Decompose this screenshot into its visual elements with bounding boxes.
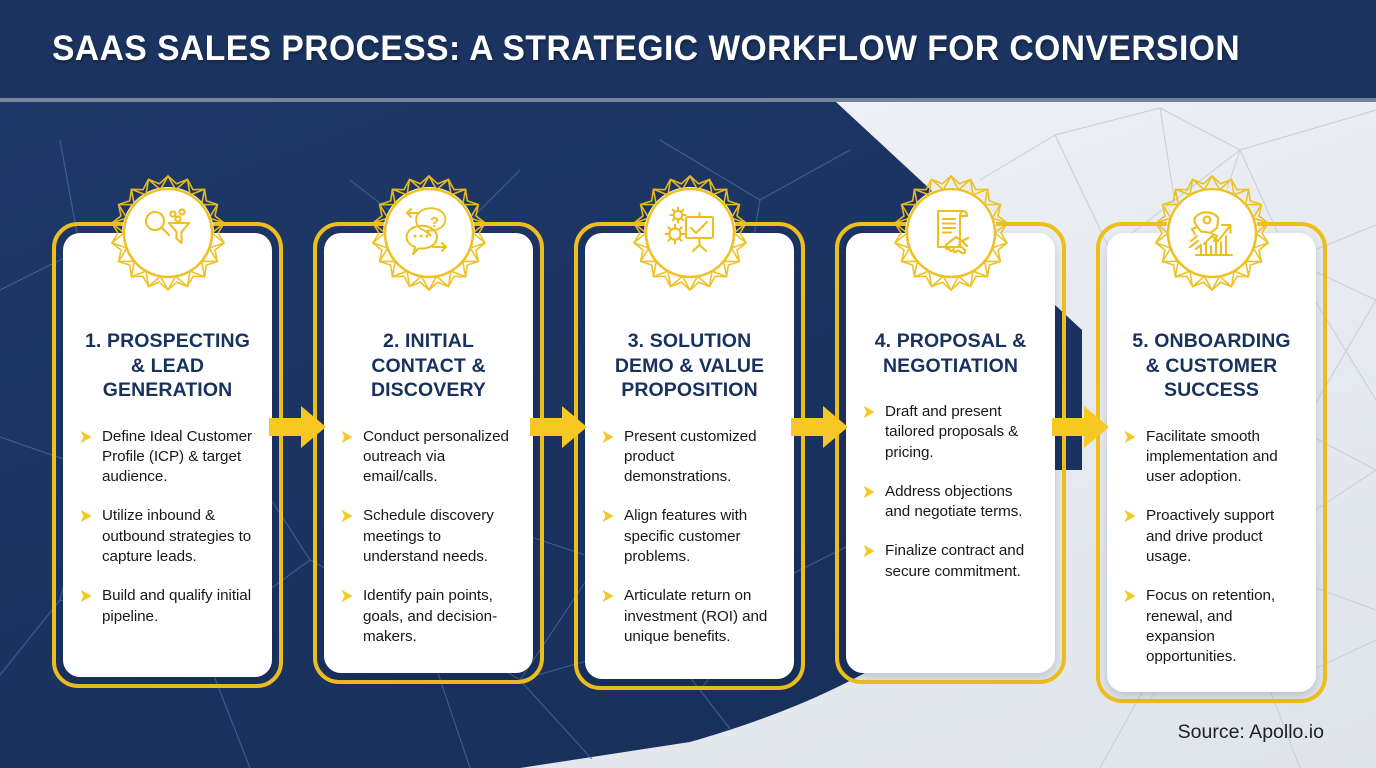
step-title-2: 2. INITIAL CONTACT & DISCOVERY — [340, 329, 517, 403]
list-item: Finalize contract and secure commitment. — [862, 541, 1039, 582]
bullet-arrow-icon — [79, 509, 93, 523]
magnifier-funnel-icon — [106, 171, 230, 295]
gears-presentation-check-icon — [628, 171, 752, 295]
list-item: Conduct personalized outreach via email/… — [340, 427, 517, 488]
bullet-arrow-icon — [79, 589, 93, 603]
bullet-text: Align features with specific customer pr… — [624, 506, 778, 567]
bullet-arrow-icon — [862, 405, 876, 419]
bullet-arrow-icon — [862, 544, 876, 558]
arrow-step4-to-step5 — [1050, 402, 1112, 452]
bullet-arrow-icon — [340, 509, 354, 523]
bullet-arrow-icon — [79, 589, 93, 603]
bullet-text: Utilize inbound & outbound strategies to… — [102, 506, 256, 567]
step-card-body: 3. SOLUTION DEMO & VALUE PROPOSITIONPres… — [585, 233, 794, 679]
bullet-arrow-icon — [79, 430, 93, 444]
bullet-text: Focus on retention, renewal, and expansi… — [1146, 586, 1300, 667]
bullet-text: Identify pain points, goals, and decisio… — [363, 586, 517, 647]
step-card-content: 2. INITIAL CONTACT & DISCOVERYConduct pe… — [324, 233, 533, 673]
step-card-body: 1. PROSPECTING & LEAD GENERATIONDefine I… — [63, 233, 272, 677]
bullet-arrow-icon — [601, 430, 615, 444]
bullet-arrow-icon — [1123, 430, 1137, 444]
right-arrow-icon — [1050, 402, 1112, 452]
steps-container: 1. PROSPECTING & LEAD GENERATIONDefine I… — [0, 0, 1376, 768]
bullet-text: Define Ideal Customer Profile (ICP) & ta… — [102, 427, 256, 488]
step-badge-3 — [628, 171, 752, 295]
list-item: Utilize inbound & outbound strategies to… — [79, 506, 256, 567]
list-item: Address objections and negotiate terms. — [862, 482, 1039, 523]
bullet-text: Draft and present tailored proposals & p… — [885, 402, 1039, 463]
bullet-arrow-icon — [1123, 589, 1137, 603]
step-card-content: 4. PROPOSAL & NEGOTIATIONDraft and prese… — [846, 233, 1055, 673]
step-bullet-list: Define Ideal Customer Profile (ICP) & ta… — [79, 427, 256, 627]
bullet-arrow-icon — [340, 430, 354, 444]
step-bullet-list: Conduct personalized outreach via email/… — [340, 427, 517, 648]
bullet-text: Articulate return on investment (ROI) an… — [624, 586, 778, 647]
step-badge-4 — [889, 171, 1013, 295]
step-title-4: 4. PROPOSAL & NEGOTIATION — [862, 329, 1039, 378]
step-card-content: 5. ONBOARDING & CUSTOMER SUCCESSFacilita… — [1107, 233, 1316, 692]
bullet-arrow-icon — [1123, 509, 1137, 523]
step-card-body: 2. INITIAL CONTACT & DISCOVERYConduct pe… — [324, 233, 533, 673]
bullet-text: Finalize contract and secure commitment. — [885, 541, 1039, 582]
bullet-arrow-icon — [862, 485, 876, 499]
right-arrow-icon — [528, 402, 590, 452]
right-arrow-icon — [789, 402, 851, 452]
bullet-arrow-icon — [862, 405, 876, 419]
list-item: Define Ideal Customer Profile (ICP) & ta… — [79, 427, 256, 488]
list-item: Facilitate smooth implementation and use… — [1123, 427, 1300, 488]
bullet-arrow-icon — [79, 430, 93, 444]
bullet-text: Proactively support and drive product us… — [1146, 506, 1300, 567]
bullet-arrow-icon — [1123, 509, 1137, 523]
bullet-arrow-icon — [340, 430, 354, 444]
step-card-body: 5. ONBOARDING & CUSTOMER SUCCESSFacilita… — [1107, 233, 1316, 692]
contract-handshake-icon — [889, 171, 1013, 295]
bullet-arrow-icon — [862, 544, 876, 558]
list-item: Present customized product demonstration… — [601, 427, 778, 488]
arrow-step3-to-step4 — [789, 402, 851, 452]
bullet-arrow-icon — [340, 589, 354, 603]
step-badge-1 — [106, 171, 230, 295]
bullet-arrow-icon — [601, 430, 615, 444]
bullet-arrow-icon — [1123, 430, 1137, 444]
list-item: Focus on retention, renewal, and expansi… — [1123, 586, 1300, 667]
rocket-growth-chart-icon — [1150, 171, 1274, 295]
step-badge-2: ? — [367, 171, 491, 295]
bullet-arrow-icon — [340, 589, 354, 603]
bullet-text: Present customized product demonstration… — [624, 427, 778, 488]
infographic-canvas: SAAS SALES PROCESS: A STRATEGIC WORKFLOW… — [0, 0, 1376, 768]
bullet-arrow-icon — [601, 589, 615, 603]
right-arrow-icon — [267, 402, 329, 452]
step-card-body: 4. PROPOSAL & NEGOTIATIONDraft and prese… — [846, 233, 1055, 673]
step-bullet-list: Present customized product demonstration… — [601, 427, 778, 648]
bullet-text: Schedule discovery meetings to understan… — [363, 506, 517, 567]
list-item: Identify pain points, goals, and decisio… — [340, 586, 517, 647]
speech-bubbles-question-icon: ? — [367, 171, 491, 295]
bullet-arrow-icon — [601, 509, 615, 523]
step-bullet-list: Draft and present tailored proposals & p… — [862, 402, 1039, 582]
bullet-text: Conduct personalized outreach via email/… — [363, 427, 517, 488]
source-label: Source: Apollo.io — [1178, 721, 1324, 744]
bullet-text: Facilitate smooth implementation and use… — [1146, 427, 1300, 488]
svg-text:?: ? — [430, 214, 439, 231]
step-card-content: 1. PROSPECTING & LEAD GENERATIONDefine I… — [63, 233, 272, 677]
list-item: Schedule discovery meetings to understan… — [340, 506, 517, 567]
list-item: Draft and present tailored proposals & p… — [862, 402, 1039, 463]
bullet-arrow-icon — [340, 509, 354, 523]
arrow-step2-to-step3 — [528, 402, 590, 452]
step-card-content: 3. SOLUTION DEMO & VALUE PROPOSITIONPres… — [585, 233, 794, 679]
step-title-5: 5. ONBOARDING & CUSTOMER SUCCESS — [1123, 329, 1300, 403]
arrow-step1-to-step2 — [267, 402, 329, 452]
step-title-1: 1. PROSPECTING & LEAD GENERATION — [79, 329, 256, 403]
bullet-arrow-icon — [862, 485, 876, 499]
step-title-3: 3. SOLUTION DEMO & VALUE PROPOSITION — [601, 329, 778, 403]
bullet-arrow-icon — [601, 509, 615, 523]
list-item: Proactively support and drive product us… — [1123, 506, 1300, 567]
list-item: Articulate return on investment (ROI) an… — [601, 586, 778, 647]
step-bullet-list: Facilitate smooth implementation and use… — [1123, 427, 1300, 668]
step-badge-5 — [1150, 171, 1274, 295]
list-item: Align features with specific customer pr… — [601, 506, 778, 567]
bullet-text: Build and qualify initial pipeline. — [102, 586, 256, 627]
bullet-arrow-icon — [601, 589, 615, 603]
bullet-arrow-icon — [79, 509, 93, 523]
bullet-arrow-icon — [1123, 589, 1137, 603]
bullet-text: Address objections and negotiate terms. — [885, 482, 1039, 523]
list-item: Build and qualify initial pipeline. — [79, 586, 256, 627]
